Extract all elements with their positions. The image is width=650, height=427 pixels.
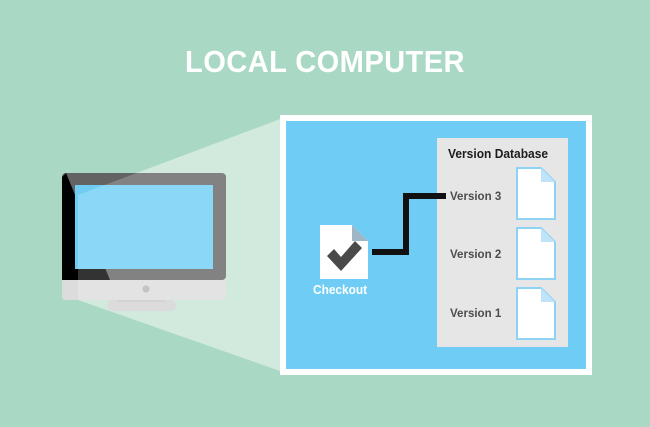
version-doc-body [517,228,555,279]
version-document-2 [517,228,555,279]
version-label-1: Version 1 [450,306,501,320]
diagram-canvas: LOCAL COMPUTER Version Database Version … [0,0,650,427]
beam-overlay-on-device [78,118,283,372]
version-label-2: Version 2 [450,247,501,261]
page-title: LOCAL COMPUTER [20,44,631,80]
desktop-monitor [62,118,283,372]
version-document-1 [517,288,555,339]
version-database-title: Version Database [448,147,548,161]
version-doc-body [517,288,555,339]
checkout-label: Checkout [313,283,367,297]
version-doc-body [517,168,555,219]
version-document-3 [517,168,555,219]
version-label-3: Version 3 [450,189,501,203]
